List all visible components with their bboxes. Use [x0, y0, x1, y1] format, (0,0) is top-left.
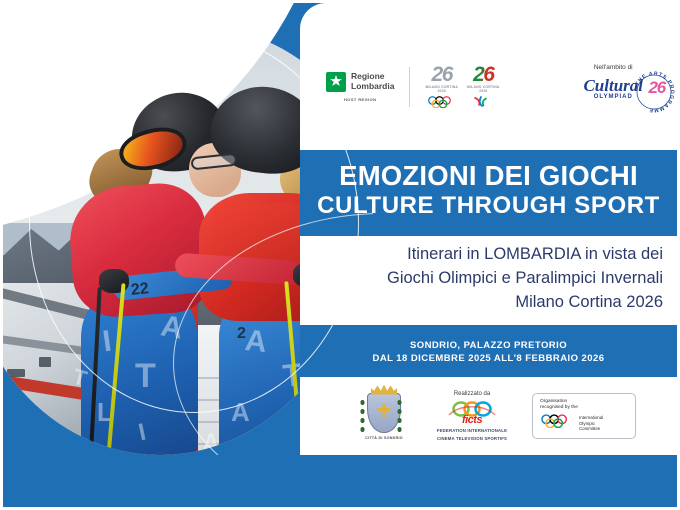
regione-lombardia-line2: Lombardia [351, 82, 394, 92]
bottom-blue-strip [3, 455, 677, 507]
realizzato-da-label: Realizzato da [420, 391, 524, 397]
photo-building [7, 369, 25, 377]
page-title-line1: EMOZIONI DEI GIOCHI [314, 160, 663, 192]
olympic-rings-icon [425, 96, 458, 108]
lombardy-rose-icon [326, 72, 346, 92]
regione-lombardia-tagline: HOST REGION [326, 97, 394, 102]
poster-canvas: I T A L I A T A I A T L 22 2 [0, 0, 680, 510]
svg-text:THE ARTS PROGRAMME: THE ARTS PROGRAMME [635, 71, 676, 113]
cultural-olympiad-block[interactable]: Nell'ambito di Cultural OLYMPIAD 26 [583, 50, 677, 103]
ioc-name-line1: International [579, 415, 603, 421]
ficts-logo[interactable]: Realizzato da ficts FEDERATION INTERNATI… [420, 391, 524, 441]
ficts-sub-line1: FEDERATION INTERNATIONALE [420, 428, 524, 433]
photo-building [39, 357, 51, 367]
arts-programme-circle-icon: THE ARTS PROGRAMME [631, 69, 677, 115]
milano-cortina-paralympic-sub2: 2026 [467, 89, 500, 93]
poster-background: I T A L I A T A I A T L 22 2 [3, 3, 677, 507]
header-logo-bar: Regione Lombardia HOST REGION 26 MILANO … [300, 3, 677, 150]
milano-cortina-paralympic-mark: 26 [467, 65, 500, 85]
ficts-wordmark: ficts [420, 414, 524, 426]
ficts-sub-line2: CINEMA TELEVISION SPORTIFS [420, 436, 524, 441]
paralympic-agitos-icon [467, 96, 500, 108]
milano-cortina-olympic-mark: 26 [425, 65, 458, 85]
milano-cortina-olympic-sub2: 2026 [425, 89, 458, 93]
ioc-name-line3: Committee [579, 426, 603, 432]
olympic-rings-icon [540, 414, 574, 433]
milano-cortina-paralympic-logo[interactable]: 26 MILANO CORTINA 2026 [467, 65, 500, 109]
ioc-badge-line2: recognised by the [540, 405, 628, 411]
milano-cortina-olympic-logo[interactable]: 26 MILANO CORTINA 2026 [425, 65, 458, 109]
logo-divider [409, 67, 410, 107]
regione-lombardia-logo[interactable]: Regione Lombardia HOST REGION [326, 72, 394, 102]
ioc-recognition-badge[interactable]: Organisation recognised by the [532, 393, 636, 439]
partner-logos-left: Regione Lombardia HOST REGION 26 MILANO … [300, 45, 500, 109]
